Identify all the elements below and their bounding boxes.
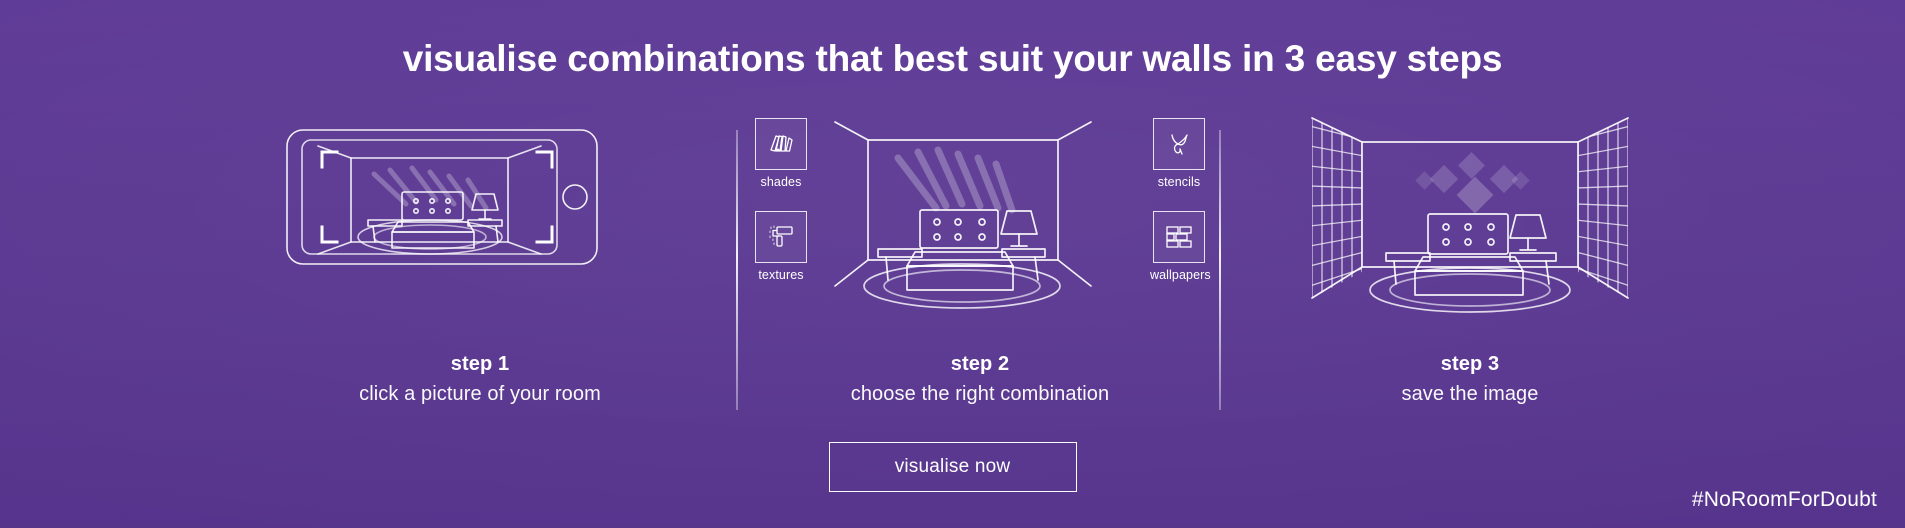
step-3-title: step 3 (1230, 351, 1710, 378)
diamond-stencil-motif (1415, 152, 1529, 213)
bedroom-with-tiled-walls-and-diamond-stencil-icon (1310, 112, 1630, 302)
step-1: step 1 click a picture of your room (230, 118, 730, 408)
step-3-subtitle: save the image (1230, 381, 1710, 408)
visualise-now-button[interactable]: visualise now (829, 442, 1077, 492)
steps-container: step 1 click a picture of your room (0, 118, 1905, 408)
phone-camera-viewfinder-bedroom-icon (230, 118, 730, 308)
step-divider-2 (1219, 130, 1221, 410)
step-3-caption: step 3 save the image (1230, 351, 1710, 408)
stencil-bird-icon (1164, 129, 1194, 159)
step-1-illustration (230, 118, 730, 308)
bedroom-with-paint-strokes-icon (830, 114, 1130, 304)
option-wallpapers[interactable]: wallpapers (1150, 211, 1208, 282)
option-stencils-label: stencils (1150, 175, 1208, 189)
step-1-caption: step 1 click a picture of your room (230, 351, 730, 408)
step-2-caption: step 2 choose the right combination (745, 351, 1215, 408)
promo-banner: visualise combinations that best suit yo… (0, 0, 1905, 528)
step-2-title: step 2 (745, 351, 1215, 378)
shades-icon-box (755, 118, 807, 170)
step-2: shades (745, 118, 1215, 408)
step-3-illustration (1230, 118, 1710, 308)
step-2-illustration: shades (745, 118, 1215, 308)
option-shades[interactable]: shades (752, 118, 810, 189)
headline: visualise combinations that best suit yo… (0, 38, 1905, 80)
option-textures[interactable]: textures (752, 211, 810, 282)
step-1-subtitle: click a picture of your room (230, 381, 730, 408)
material-options-left: shades (745, 118, 817, 292)
textures-icon-box (755, 211, 807, 263)
stencils-icon-box (1153, 118, 1205, 170)
option-textures-label: textures (752, 268, 810, 282)
campaign-hashtag: #NoRoomForDoubt (1692, 488, 1877, 512)
step-2-subtitle: choose the right combination (745, 381, 1215, 408)
color-swatch-fan-icon (766, 129, 796, 159)
wallpapers-icon-box (1153, 211, 1205, 263)
step-3: step 3 save the image (1230, 118, 1710, 408)
material-options-right: stencils (1143, 118, 1215, 292)
option-wallpapers-label: wallpapers (1150, 268, 1208, 282)
option-shades-label: shades (752, 175, 810, 189)
option-stencils[interactable]: stencils (1150, 118, 1208, 189)
paint-roller-icon (766, 222, 796, 252)
step-divider-1 (736, 130, 738, 410)
step-1-title: step 1 (230, 351, 730, 378)
brick-wallpaper-icon (1163, 223, 1195, 251)
